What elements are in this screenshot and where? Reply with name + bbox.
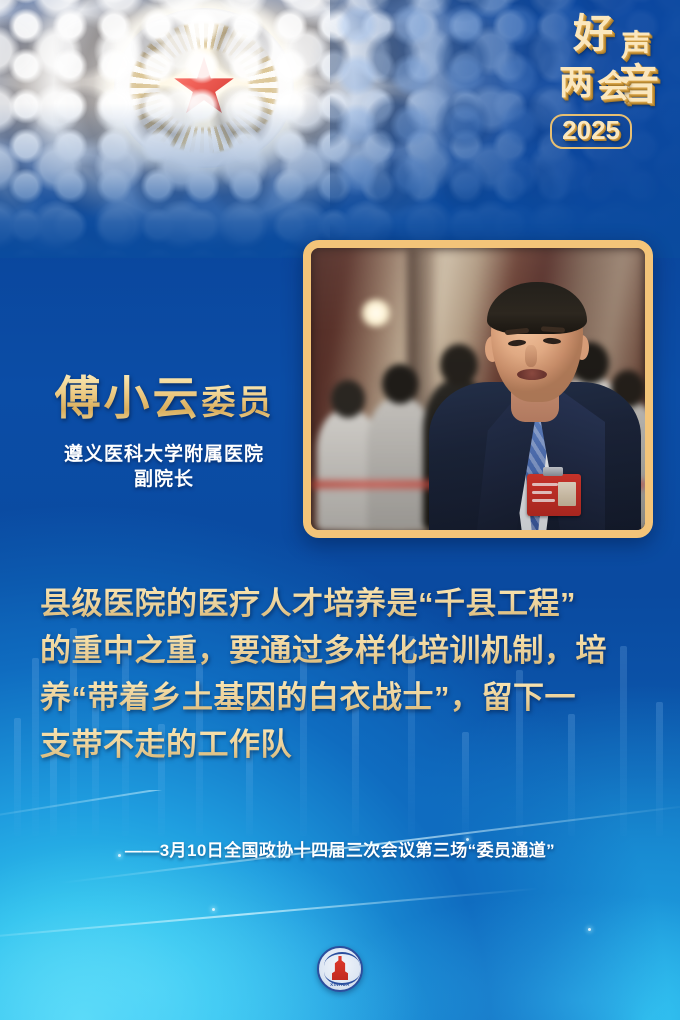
logo-char-sheng: 声 (621, 32, 650, 62)
speaker-portrait-photo (311, 248, 645, 530)
logo-char-liang: 两 (559, 66, 592, 100)
quote-line-1: 县级医院的医疗人才培养是“千县工程” (40, 580, 640, 627)
speaker-name: 傅小云 (55, 362, 202, 428)
logo-year-badge: 2025 (550, 114, 632, 149)
logo-char-hao: 好 (573, 14, 612, 54)
photo-gloss-overlay (311, 248, 645, 530)
speaker-portrait-frame (303, 240, 653, 538)
sparkle (212, 908, 215, 911)
quote-line-4: 支带不走的工作队 (40, 721, 640, 768)
program-logo: 好 声 音 两 会 2025 (544, 14, 664, 160)
quote-line-3: 养“带着乡土基因的白衣战士”，留下一 (40, 674, 640, 721)
sparkle (466, 838, 469, 841)
speaker-organization: 遵义医科大学附属医院 (34, 442, 294, 467)
speaker-affiliation: 遵义医科大学附属医院 副院长 (34, 442, 294, 493)
xinhua-wordmark: XINHUA (319, 982, 361, 987)
speaker-name-suffix: 委员 (202, 375, 274, 424)
logo-char-hui: 会 (597, 70, 628, 102)
speaker-name-row: 傅小云 委员 (34, 362, 294, 428)
poster-canvas: 好 声 音 两 会 2025 (0, 0, 680, 1020)
quote-text: 县级医院的医疗人才培养是“千县工程” 的重中之重，要通过多样化培训机制，培 养“… (40, 580, 640, 768)
quote-line-2: 的重中之重，要通过多样化培训机制，培 (40, 627, 640, 674)
sparkle (588, 928, 591, 931)
speaker-position: 副院长 (34, 467, 294, 492)
sparkle (118, 854, 121, 857)
speaker-name-block: 傅小云 委员 遵义医科大学附属医院 副院长 (34, 362, 294, 493)
xinhua-logo-icon: XINHUA (317, 946, 363, 992)
